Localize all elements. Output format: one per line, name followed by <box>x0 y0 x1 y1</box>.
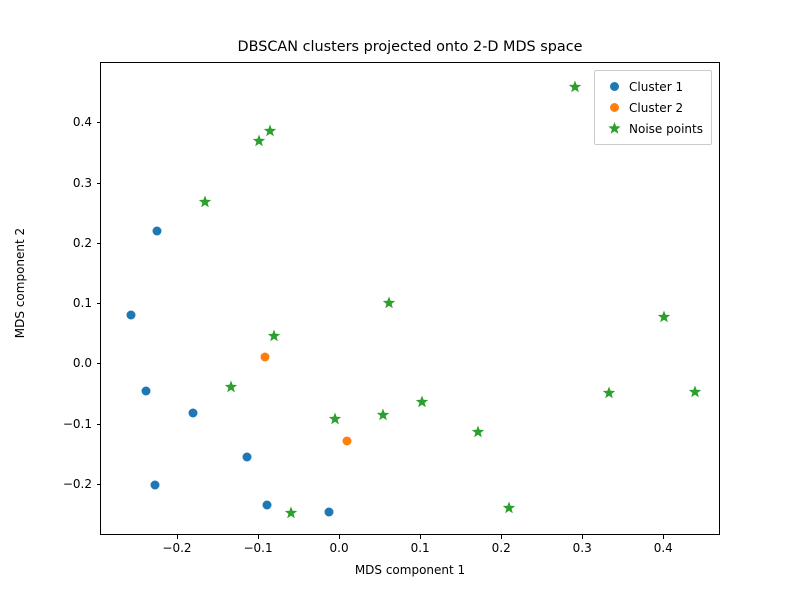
data-point-cluster-1 <box>324 507 333 516</box>
x-tick-mark <box>258 535 259 539</box>
matplotlib-figure: DBSCAN clusters projected onto 2-D MDS s… <box>0 0 800 600</box>
x-tick-mark <box>420 535 421 539</box>
data-point-noise-points <box>471 425 484 438</box>
legend-label: Cluster 2 <box>627 102 683 114</box>
data-point-cluster-2 <box>342 437 351 446</box>
data-point-noise-points <box>268 329 281 342</box>
legend-dot-icon <box>601 82 627 91</box>
legend-dot-icon <box>601 103 627 112</box>
data-point-cluster-1 <box>151 480 160 489</box>
x-tick-label: −0.2 <box>162 541 191 555</box>
data-point-cluster-1 <box>242 453 251 462</box>
y-tick-label: −0.1 <box>63 417 92 431</box>
data-point-noise-points <box>264 125 277 138</box>
data-point-noise-points <box>329 412 342 425</box>
y-tick-label: 0.4 <box>73 115 92 129</box>
y-axis-label: MDS component 2 <box>13 203 27 363</box>
x-tick-mark <box>339 535 340 539</box>
data-point-noise-points <box>415 396 428 409</box>
data-point-noise-points <box>689 385 702 398</box>
plot-axes: Cluster 1Cluster 2Noise points <box>100 62 720 535</box>
data-point-cluster-2 <box>260 353 269 362</box>
x-tick-mark <box>663 535 664 539</box>
legend-entry[interactable]: Noise points <box>601 118 703 139</box>
x-tick-mark <box>177 535 178 539</box>
data-point-cluster-1 <box>141 387 150 396</box>
y-tick-label: 0.1 <box>73 296 92 310</box>
data-point-noise-points <box>603 386 616 399</box>
x-tick-mark <box>582 535 583 539</box>
data-point-noise-points <box>285 507 298 520</box>
data-point-noise-points <box>658 310 671 323</box>
data-point-noise-points <box>198 195 211 208</box>
x-tick-label: 0.3 <box>573 541 592 555</box>
chart-title: DBSCAN clusters projected onto 2-D MDS s… <box>100 38 720 56</box>
data-point-noise-points <box>502 501 515 514</box>
data-point-noise-points <box>569 81 582 94</box>
y-tick-label: 0.2 <box>73 236 92 250</box>
x-tick-label: 0.4 <box>654 541 673 555</box>
x-tick-label: 0.2 <box>492 541 511 555</box>
legend-entry[interactable]: Cluster 2 <box>601 97 703 118</box>
data-point-noise-points <box>224 381 237 394</box>
legend-label: Noise points <box>627 123 703 135</box>
y-tick-label: 0.0 <box>73 356 92 370</box>
y-tick-label: 0.3 <box>73 176 92 190</box>
data-point-cluster-1 <box>189 409 198 418</box>
x-tick-label: 0.1 <box>411 541 430 555</box>
x-tick-mark <box>501 535 502 539</box>
x-tick-label: 0.0 <box>330 541 349 555</box>
legend-star-icon <box>601 122 627 135</box>
y-tick-label: −0.2 <box>63 477 92 491</box>
data-point-noise-points <box>382 296 395 309</box>
x-axis-label: MDS component 1 <box>100 563 720 577</box>
data-point-cluster-1 <box>263 501 272 510</box>
legend-entry[interactable]: Cluster 1 <box>601 76 703 97</box>
data-point-noise-points <box>253 135 266 148</box>
data-point-cluster-1 <box>152 226 161 235</box>
x-tick-label: −0.1 <box>243 541 272 555</box>
data-point-noise-points <box>377 409 390 422</box>
legend-label: Cluster 1 <box>627 81 683 93</box>
chart-legend: Cluster 1Cluster 2Noise points <box>594 70 712 145</box>
data-point-cluster-1 <box>126 310 135 319</box>
